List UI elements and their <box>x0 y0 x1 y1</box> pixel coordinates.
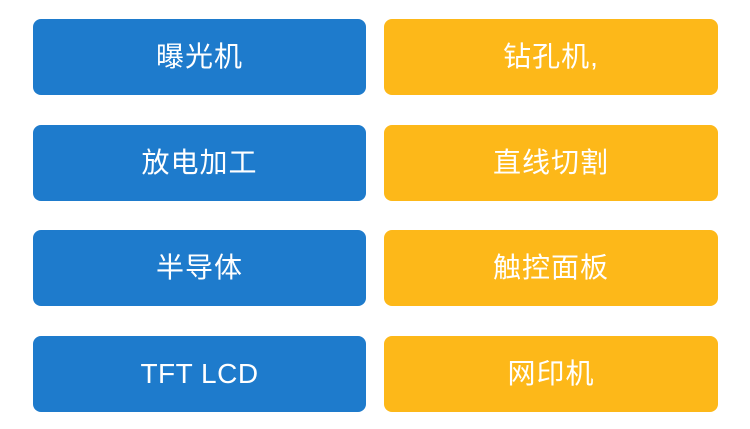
tag-button-edm[interactable]: 放电加工 <box>33 125 366 201</box>
tag-button-label: 曝光机 <box>156 43 243 71</box>
tag-column-left: 曝光机 放电加工 半导体 TFT LCD <box>33 19 366 412</box>
tag-button-board: 曝光机 放电加工 半导体 TFT LCD 钻孔机, 直线切割 触控面板 网印机 <box>0 0 750 429</box>
tag-button-label: 放电加工 <box>141 149 257 177</box>
tag-button-semiconductor[interactable]: 半导体 <box>33 230 366 306</box>
tag-button-drilling-machine[interactable]: 钻孔机, <box>384 19 718 95</box>
tag-button-label: TFT LCD <box>140 360 258 388</box>
tag-button-wire-cutting[interactable]: 直线切割 <box>384 125 718 201</box>
tag-button-label: 半导体 <box>156 254 243 282</box>
tag-button-label: 钻孔机, <box>503 43 599 71</box>
tag-button-label: 网印机 <box>507 360 594 388</box>
tag-button-touch-panel[interactable]: 触控面板 <box>384 230 718 306</box>
tag-button-screen-printer[interactable]: 网印机 <box>384 336 718 412</box>
tag-button-label: 触控面板 <box>493 254 609 282</box>
tag-column-right: 钻孔机, 直线切割 触控面板 网印机 <box>384 19 718 412</box>
tag-button-label: 直线切割 <box>493 149 609 177</box>
tag-button-exposure-machine[interactable]: 曝光机 <box>33 19 366 95</box>
tag-button-tft-lcd[interactable]: TFT LCD <box>33 336 366 412</box>
